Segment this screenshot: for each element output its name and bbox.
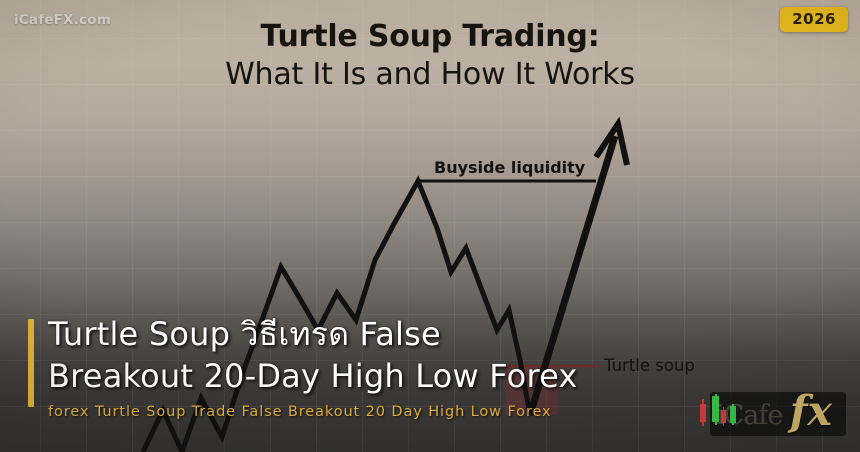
fx-monogram: fx	[790, 387, 832, 435]
candle-down-wick-small	[723, 407, 724, 426]
video-thumbnail: iCafeFX.com 2026 Turtle Soup Trading: Wh…	[0, 0, 860, 452]
brand-logo: iCafe fx	[694, 388, 846, 440]
candlestick-icon-inner	[720, 404, 742, 428]
overlay-text-block: Turtle Soup วิธีเทรด False Breakout 20-D…	[28, 313, 578, 420]
accent-bar	[28, 319, 34, 407]
candle-down-wick	[702, 399, 704, 426]
buyside-liquidity-label: Buyside liquidity	[434, 158, 585, 177]
page-title: Turtle Soup Trading: What It Is and How …	[0, 20, 860, 94]
headline-line-2: What It Is and How It Works	[0, 55, 860, 94]
headline-line-1: Turtle Soup Trading:	[0, 20, 860, 55]
overlay-subtitle: forex Turtle Soup Trade False Breakout 2…	[48, 404, 578, 420]
overlay-title-line-2: Breakout 20-Day High Low Forex	[48, 355, 578, 397]
turtle-soup-label: Turtle soup	[604, 356, 695, 375]
candle-up-wick-small	[732, 404, 733, 425]
overlay-title-line-1: Turtle Soup วิธีเทรด False	[48, 313, 578, 355]
